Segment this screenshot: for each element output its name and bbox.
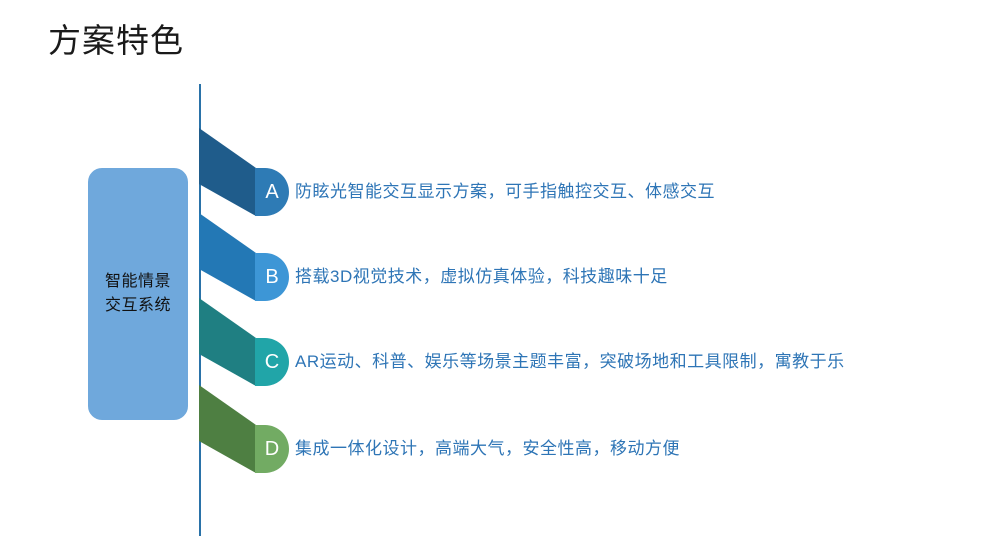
feature-text: AR运动、科普、娱乐等场景主题丰富，突破场地和工具限制，寓教于乐 [295, 350, 845, 374]
step-badge-a[interactable]: A [255, 168, 289, 216]
wedge-shape [199, 213, 256, 309]
step-badge-d[interactable]: D [255, 425, 289, 473]
anchor-box-label: 智能情景 交互系统 [105, 270, 171, 318]
anchor-box[interactable]: 智能情景 交互系统 [88, 168, 188, 420]
wedge-shape [199, 298, 256, 394]
step-badge-b[interactable]: B [255, 253, 289, 301]
slide-canvas: 方案特色 智能情景 交互系统 A防眩光智能交互显示方案，可手指触控交互、体感交互… [0, 0, 984, 544]
step-badge-c[interactable]: C [255, 338, 289, 386]
page-title: 方案特色 [48, 20, 184, 62]
wedge-shape [199, 385, 256, 481]
feature-text: 搭载3D视觉技术，虚拟仿真体验，科技趣味十足 [295, 265, 668, 289]
feature-text: 集成一体化设计，高端大气，安全性高，移动方便 [295, 437, 680, 461]
feature-text: 防眩光智能交互显示方案，可手指触控交互、体感交互 [295, 180, 715, 204]
wedge-shape [199, 128, 256, 224]
